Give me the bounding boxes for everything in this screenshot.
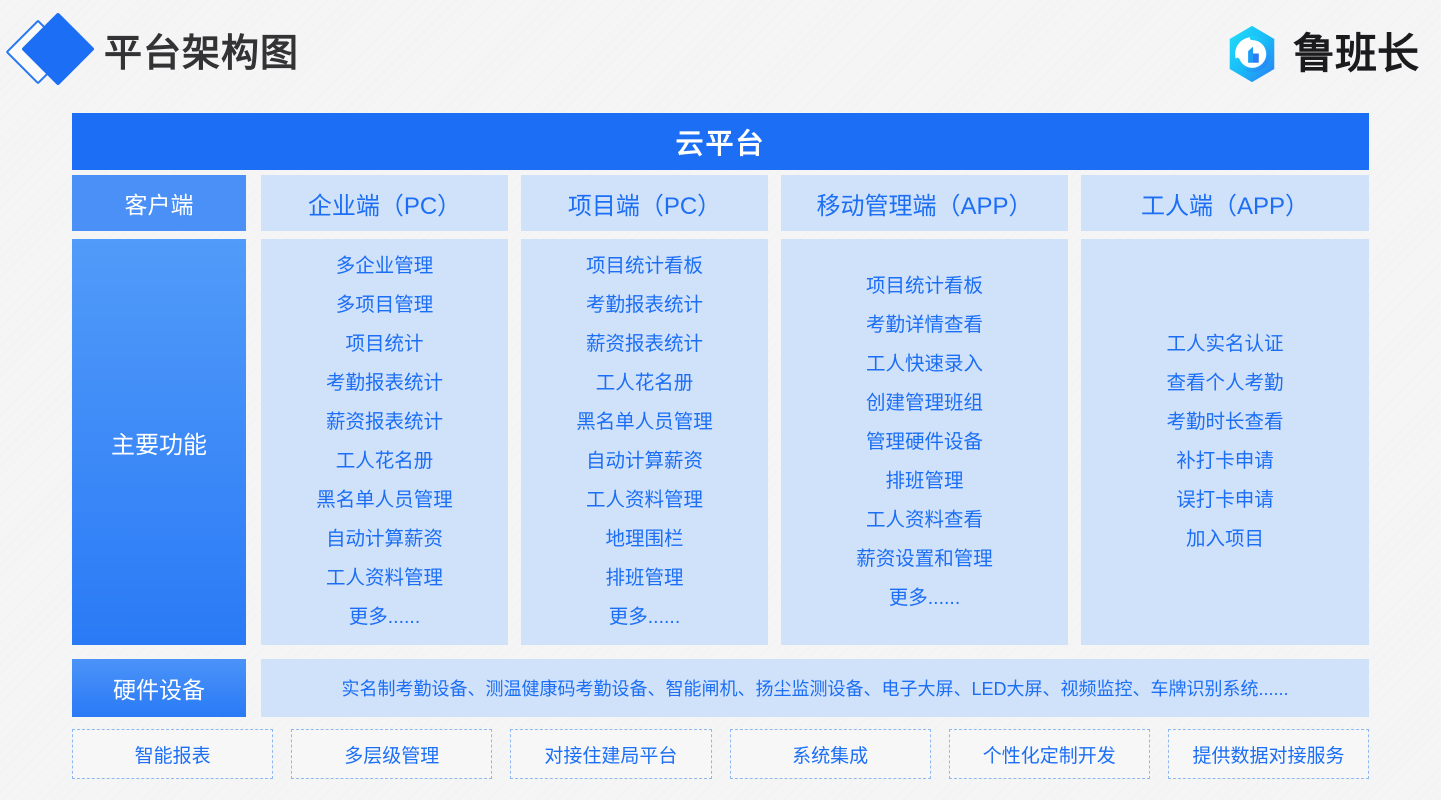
column-body-project: 项目统计看板考勤报表统计薪资报表统计工人花名册黑名单人员管理自动计算薪资工人资料… — [521, 239, 768, 645]
side-label-main-functions: 主要功能 — [72, 239, 246, 645]
feature-item[interactable]: 排班管理 — [605, 559, 683, 598]
service-box[interactable]: 个性化定制开发 — [949, 729, 1150, 779]
feature-item[interactable]: 项目统计看板 — [866, 267, 983, 306]
hardware-devices-list: 实名制考勤设备、测温健康码考勤设备、智能闸机、扬尘监测设备、电子大屏、LED大屏… — [261, 659, 1369, 717]
feature-item[interactable]: 自动计算薪资 — [326, 520, 443, 559]
architecture-diagram-slide: 平台架构图 鲁班长 云平台 客户端 主要功能 — [0, 0, 1441, 800]
feature-item[interactable]: 工人花名册 — [336, 442, 434, 481]
feature-item[interactable]: 工人资料管理 — [586, 481, 703, 520]
feature-item[interactable]: 查看个人考勤 — [1166, 364, 1283, 403]
feature-item[interactable]: 工人资料管理 — [326, 559, 443, 598]
feature-item[interactable]: 黑名单人员管理 — [576, 403, 713, 442]
feature-item[interactable]: 工人实名认证 — [1166, 325, 1283, 364]
feature-item[interactable]: 工人快速录入 — [866, 345, 983, 384]
feature-item[interactable]: 更多...... — [609, 598, 681, 637]
feature-item[interactable]: 误打卡申请 — [1176, 481, 1274, 520]
side-label-hardware: 硬件设备 — [72, 659, 246, 717]
service-box[interactable]: 智能报表 — [72, 729, 273, 779]
column-body-mobile-admin: 项目统计看板考勤详情查看工人快速录入创建管理班组管理硬件设备排班管理工人资料查看… — [781, 239, 1068, 645]
feature-item[interactable]: 补打卡申请 — [1176, 442, 1274, 481]
side-label-client: 客户端 — [72, 175, 246, 231]
service-box[interactable]: 提供数据对接服务 — [1168, 729, 1369, 779]
feature-item[interactable]: 考勤时长查看 — [1166, 403, 1283, 442]
feature-item[interactable]: 自动计算薪资 — [586, 442, 703, 481]
service-box[interactable]: 多层级管理 — [291, 729, 492, 779]
brand-name: 鲁班长 — [1293, 33, 1419, 75]
feature-item[interactable]: 薪资报表统计 — [326, 403, 443, 442]
feature-item[interactable]: 管理硬件设备 — [866, 423, 983, 462]
column-header-project[interactable]: 项目端（PC） — [521, 175, 768, 231]
feature-item[interactable]: 项目统计 — [345, 325, 423, 364]
feature-item[interactable]: 薪资设置和管理 — [856, 540, 993, 579]
cloud-platform-banner: 云平台 — [72, 113, 1369, 170]
hexagon-building-logo-icon — [1221, 23, 1283, 85]
feature-item[interactable]: 加入项目 — [1186, 520, 1264, 559]
page-title: 平台架构图 — [104, 35, 299, 73]
feature-item[interactable]: 排班管理 — [885, 462, 963, 501]
diamond-icon — [8, 18, 104, 90]
service-box[interactable]: 系统集成 — [730, 729, 931, 779]
feature-item[interactable]: 考勤报表统计 — [326, 364, 443, 403]
feature-item[interactable]: 更多...... — [349, 598, 421, 637]
feature-item[interactable]: 薪资报表统计 — [586, 325, 703, 364]
feature-item[interactable]: 考勤详情查看 — [866, 306, 983, 345]
brand-logo: 鲁班长 — [1221, 22, 1419, 86]
column-body-worker: 工人实名认证查看个人考勤考勤时长查看补打卡申请误打卡申请加入项目 — [1081, 239, 1369, 645]
column-body-enterprise: 多企业管理多项目管理项目统计考勤报表统计薪资报表统计工人花名册黑名单人员管理自动… — [261, 239, 508, 645]
feature-item[interactable]: 多企业管理 — [336, 247, 434, 286]
service-capabilities-row: 智能报表多层级管理对接住建局平台系统集成个性化定制开发提供数据对接服务 — [72, 729, 1369, 779]
column-header-mobile-admin[interactable]: 移动管理端（APP） — [781, 175, 1068, 231]
slide-header: 平台架构图 鲁班长 — [0, 0, 1441, 108]
feature-item[interactable]: 黑名单人员管理 — [316, 481, 453, 520]
feature-item[interactable]: 地理围栏 — [605, 520, 683, 559]
title-group: 平台架构图 — [8, 18, 299, 90]
service-box[interactable]: 对接住建局平台 — [510, 729, 711, 779]
feature-item[interactable]: 工人资料查看 — [866, 501, 983, 540]
feature-item[interactable]: 多项目管理 — [336, 286, 434, 325]
column-header-enterprise[interactable]: 企业端（PC） — [261, 175, 508, 231]
column-header-worker[interactable]: 工人端（APP） — [1081, 175, 1369, 231]
feature-item[interactable]: 创建管理班组 — [866, 384, 983, 423]
feature-item[interactable]: 工人花名册 — [596, 364, 694, 403]
feature-item[interactable]: 项目统计看板 — [586, 247, 703, 286]
feature-item[interactable]: 更多...... — [889, 579, 961, 618]
feature-item[interactable]: 考勤报表统计 — [586, 286, 703, 325]
